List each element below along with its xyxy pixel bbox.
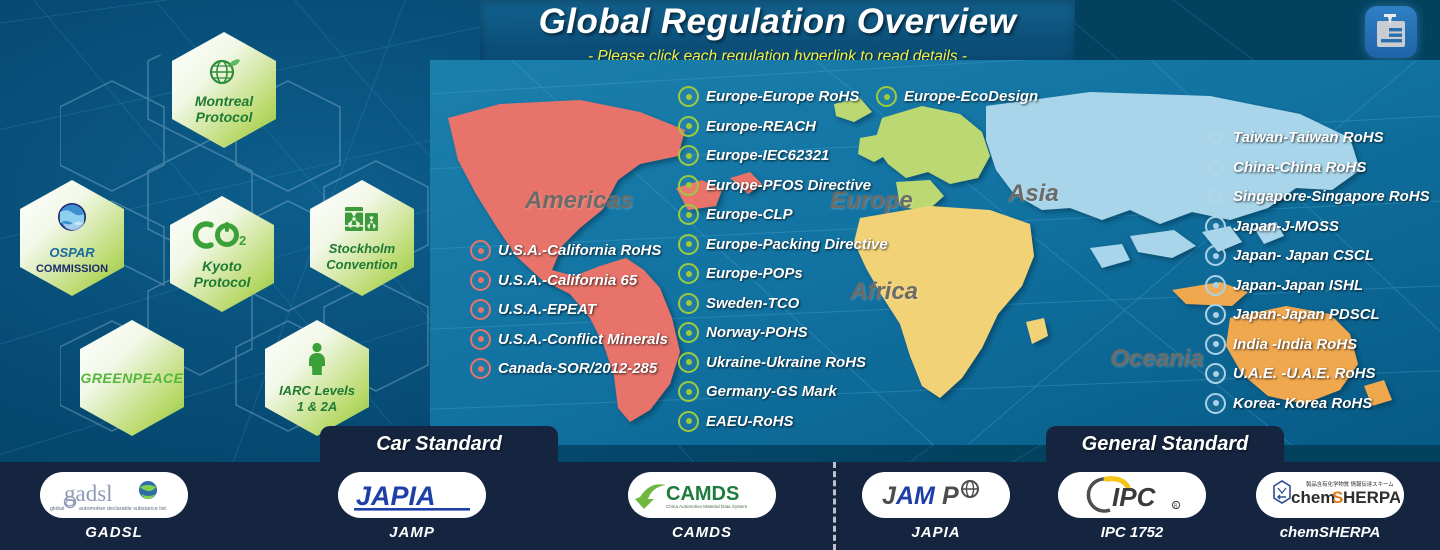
regulation-bullet-icon: [470, 299, 491, 320]
regulation-label: Europe-Europe RoHS: [706, 88, 859, 105]
org-label-line1: Stockholm: [323, 241, 401, 257]
regulation-label: Europe-IEC62321: [706, 147, 829, 164]
regulation-link-europe-6[interactable]: Europe-POPs: [678, 259, 888, 289]
regulation-bullet-icon: [678, 234, 699, 255]
regulation-label: U.S.A.-California RoHS: [498, 242, 661, 259]
regulation-bullet-icon: [470, 240, 491, 261]
regulation-list-asia: Taiwan-Taiwan RoHSChina-China RoHSSingap…: [1205, 123, 1430, 418]
svg-text:AM: AM: [895, 482, 936, 510]
regulation-list-europe-extra: Europe-EcoDesign: [876, 82, 1038, 112]
regulation-label: Korea- Korea RoHS: [1233, 395, 1372, 412]
regulation-bullet-icon: [678, 322, 699, 343]
standard-caption: chemSHERPA: [1240, 524, 1420, 541]
regulation-bullet-icon: [470, 358, 491, 379]
regulation-label: Taiwan-Taiwan RoHS: [1233, 129, 1384, 146]
regulation-label: Singapore-Singapore RoHS: [1233, 188, 1430, 205]
jamp-logo: J AM P: [862, 472, 1010, 518]
regulation-label: Europe-Packing Directive: [706, 236, 888, 253]
svg-text:CAMDS: CAMDS: [666, 483, 739, 505]
regulation-link-americas-3[interactable]: U.S.A.-Conflict Minerals: [470, 325, 668, 355]
regulation-bullet-icon: [678, 116, 699, 137]
regulation-label: Canada-SOR/2012-285: [498, 360, 657, 377]
tab-car-standard[interactable]: Car Standard: [320, 426, 558, 462]
regulation-link-europe-3[interactable]: Europe-PFOS Directive: [678, 171, 888, 201]
regulation-label: U.A.E. -U.A.E. RoHS: [1233, 365, 1376, 382]
svg-text:gadsl: gadsl: [64, 481, 113, 506]
regulation-link-asia-4[interactable]: Japan- Japan CSCL: [1205, 241, 1430, 271]
regulation-label: U.S.A.-Conflict Minerals: [498, 331, 668, 348]
regulation-link-asia-5[interactable]: Japan-Japan ISHL: [1205, 271, 1430, 301]
regulation-link-europe-5[interactable]: Europe-Packing Directive: [678, 230, 888, 260]
regulation-bullet-icon: [678, 175, 699, 196]
regulation-link-asia-1[interactable]: China-China RoHS: [1205, 153, 1430, 183]
regulation-bullet-icon: [678, 263, 699, 284]
greenpeace-wordmark-icon: GREENPEACE: [74, 370, 189, 386]
standard-logo-gadsl[interactable]: gadsl global automotive declarable subst…: [24, 472, 204, 541]
regulation-label: Europe-REACH: [706, 118, 816, 135]
globe-leaf-icon: [207, 56, 241, 91]
chemsherpa-jp-subtitle: 製品含有化学物質 情報伝達スキーム: [1306, 480, 1394, 488]
page-title: Global Regulation Overview: [480, 2, 1075, 42]
regulation-link-europe-extra-0[interactable]: Europe-EcoDesign: [876, 82, 1038, 112]
regulation-bullet-icon: [1205, 363, 1226, 384]
regulation-label: China-China RoHS: [1233, 159, 1366, 176]
svg-text:J: J: [882, 482, 897, 510]
regulation-bullet-icon: [678, 145, 699, 166]
regulation-link-americas-4[interactable]: Canada-SOR/2012-285: [470, 354, 668, 384]
standard-caption: IPC 1752: [1042, 524, 1222, 541]
org-label-line2: Protocol: [190, 109, 259, 125]
org-label-line2: Convention: [320, 257, 404, 273]
ospar-globe-icon: [52, 200, 92, 243]
ipc-logo: IPC R: [1058, 472, 1206, 518]
svg-text:global: global: [50, 506, 64, 512]
tab-general-standard[interactable]: General Standard: [1046, 426, 1284, 462]
org-badge-ospar-commission[interactable]: OSPAR COMMISSION: [20, 180, 124, 296]
regulation-bullet-icon: [678, 86, 699, 107]
org-label-line1: Kyoto: [196, 258, 248, 274]
regulation-label: Ukraine-Ukraine RoHS: [706, 354, 866, 371]
svg-text:chem: chem: [1291, 488, 1335, 507]
org-label-line2: Protocol: [188, 274, 257, 290]
org-badge-greenpeace[interactable]: GREENPEACE: [80, 320, 184, 436]
org-badge-montreal-protocol[interactable]: Montreal Protocol: [172, 32, 276, 148]
standard-caption: CAMDS: [612, 524, 792, 541]
regulation-label: India -India RoHS: [1233, 336, 1357, 353]
org-badge-kyoto-protocol[interactable]: 2 Kyoto Protocol: [170, 196, 274, 312]
standard-caption: JAPIA: [846, 524, 1026, 541]
regulation-link-europe-11[interactable]: EAEU-RoHS: [678, 407, 888, 437]
regulation-bullet-icon: [678, 411, 699, 432]
regulation-bullet-icon: [1205, 334, 1226, 355]
svg-text:IPC: IPC: [1112, 482, 1157, 512]
regulation-bullet-icon: [678, 352, 699, 373]
regulation-link-asia-9[interactable]: Korea- Korea RoHS: [1205, 389, 1430, 419]
regulation-bullet-icon: [876, 86, 897, 107]
org-label-line1: Montreal: [189, 93, 259, 109]
regulation-bullet-icon: [1205, 245, 1226, 266]
org-label-line2: COMMISSION: [30, 261, 114, 277]
regulation-bullet-icon: [470, 329, 491, 350]
regulation-bullet-icon: [678, 381, 699, 402]
regulation-label: EAEU-RoHS: [706, 413, 794, 430]
regulation-bullet-icon: [1205, 186, 1226, 207]
regulation-label: Norway-POHS: [706, 324, 808, 341]
regulation-link-asia-2[interactable]: Singapore-Singapore RoHS: [1205, 182, 1430, 212]
regulation-list-europe: Europe-Europe RoHSEurope-REACHEurope-IEC…: [678, 82, 888, 436]
regulation-label: Europe-EcoDesign: [904, 88, 1038, 105]
regulation-label: U.S.A.-EPEAT: [498, 301, 596, 318]
svg-text:S: S: [1332, 488, 1343, 507]
svg-text:R: R: [1174, 503, 1178, 509]
standard-logo-japia-general[interactable]: J AM P JAPIA: [846, 472, 1026, 541]
co2-icon: 2: [191, 219, 253, 256]
svg-text:automotive declarable substanc: automotive declarable substance list: [79, 506, 166, 512]
regulation-bullet-icon: [1205, 304, 1226, 325]
org-badge-iarc-levels[interactable]: IARC Levels 1 & 2A: [265, 320, 369, 436]
regulation-label: Germany-GS Mark: [706, 383, 837, 400]
regulation-label: Japan-Japan PDSCL: [1233, 306, 1380, 323]
svg-text:China Automotive Material Data: China Automotive Material Data System: [666, 504, 747, 509]
org-badge-stockholm-convention[interactable]: Stockholm Convention: [310, 180, 414, 296]
regulation-link-americas-0[interactable]: U.S.A.-California RoHS: [470, 236, 668, 266]
regulation-bullet-icon: [1205, 127, 1226, 148]
chemsherpa-logo: chem S HERPA 製品含有化学物質 情報伝達スキーム: [1256, 472, 1404, 518]
regulation-link-europe-10[interactable]: Germany-GS Mark: [678, 377, 888, 407]
regulation-label: Europe-POPs: [706, 265, 803, 282]
regulation-link-europe-7[interactable]: Sweden-TCO: [678, 289, 888, 319]
regulation-list-americas: U.S.A.-California RoHSU.S.A.-California …: [470, 236, 668, 384]
regulation-link-asia-7[interactable]: India -India RoHS: [1205, 330, 1430, 360]
japia-logo: JAPIA: [338, 472, 486, 518]
toxic-barrel-icon: [342, 204, 382, 239]
regulation-bullet-icon: [678, 293, 699, 314]
regulation-bullet-icon: [470, 270, 491, 291]
svg-text:P: P: [942, 482, 959, 510]
regulation-label: Sweden-TCO: [706, 295, 799, 312]
regulation-link-europe-0[interactable]: Europe-Europe RoHS: [678, 82, 888, 112]
org-label-line2: 1 & 2A: [291, 399, 343, 415]
regulation-bullet-icon: [1205, 275, 1226, 296]
svg-text:JAPIA: JAPIA: [356, 481, 436, 511]
regulation-link-asia-3[interactable]: Japan-J-MOSS: [1205, 212, 1430, 242]
regulation-label: Europe-CLP: [706, 206, 793, 223]
gadsl-logo: gadsl global automotive declarable subst…: [40, 472, 188, 518]
regulation-label: Japan-Japan ISHL: [1233, 277, 1363, 294]
standard-logo-chemsherpa[interactable]: chem S HERPA 製品含有化学物質 情報伝達スキーム chemSHERP…: [1240, 472, 1420, 541]
global-regulation-overview-page: Global Regulation Overview - Please clic…: [0, 0, 1440, 550]
standard-logo-ipc[interactable]: IPC R IPC 1752: [1042, 472, 1222, 541]
regulation-link-asia-6[interactable]: Japan-Japan PDSCL: [1205, 300, 1430, 330]
regulation-link-europe-9[interactable]: Ukraine-Ukraine RoHS: [678, 348, 888, 378]
svg-text:2: 2: [239, 233, 246, 248]
person-icon: [304, 342, 330, 381]
regulation-link-europe-8[interactable]: Norway-POHS: [678, 318, 888, 348]
regulation-label: Japan- Japan CSCL: [1233, 247, 1374, 264]
org-label-line1: IARC Levels: [273, 383, 361, 399]
regulation-label: Europe-PFOS Directive: [706, 177, 871, 194]
regulation-label: Japan-J-MOSS: [1233, 218, 1339, 235]
standard-logo-camds[interactable]: CAMDS China Automotive Material Data Sys…: [612, 472, 792, 541]
standard-caption: GADSL: [24, 524, 204, 541]
regulation-bullet-icon: [1205, 393, 1226, 414]
regulation-bullet-icon: [1205, 216, 1226, 237]
org-label-line1: OSPAR: [43, 245, 100, 261]
regulation-link-americas-1[interactable]: U.S.A.-California 65: [470, 266, 668, 296]
regulation-link-asia-8[interactable]: U.A.E. -U.A.E. RoHS: [1205, 359, 1430, 389]
regulation-label: U.S.A.-California 65: [498, 272, 637, 289]
regulation-link-europe-4[interactable]: Europe-CLP: [678, 200, 888, 230]
regulation-bullet-icon: [678, 204, 699, 225]
camds-logo: CAMDS China Automotive Material Data Sys…: [628, 472, 776, 518]
regulation-link-americas-2[interactable]: U.S.A.-EPEAT: [470, 295, 668, 325]
document-pin-icon: [1365, 6, 1417, 58]
regulation-link-europe-2[interactable]: Europe-IEC62321: [678, 141, 888, 171]
standard-logo-jamp-car[interactable]: JAPIA JAMP: [322, 472, 502, 541]
regulation-bullet-icon: [1205, 157, 1226, 178]
regulation-link-asia-0[interactable]: Taiwan-Taiwan RoHS: [1205, 123, 1430, 153]
svg-text:HERPA: HERPA: [1343, 488, 1400, 507]
standards-divider: [833, 462, 836, 550]
standard-caption: JAMP: [322, 524, 502, 541]
regulation-link-europe-1[interactable]: Europe-REACH: [678, 112, 888, 142]
